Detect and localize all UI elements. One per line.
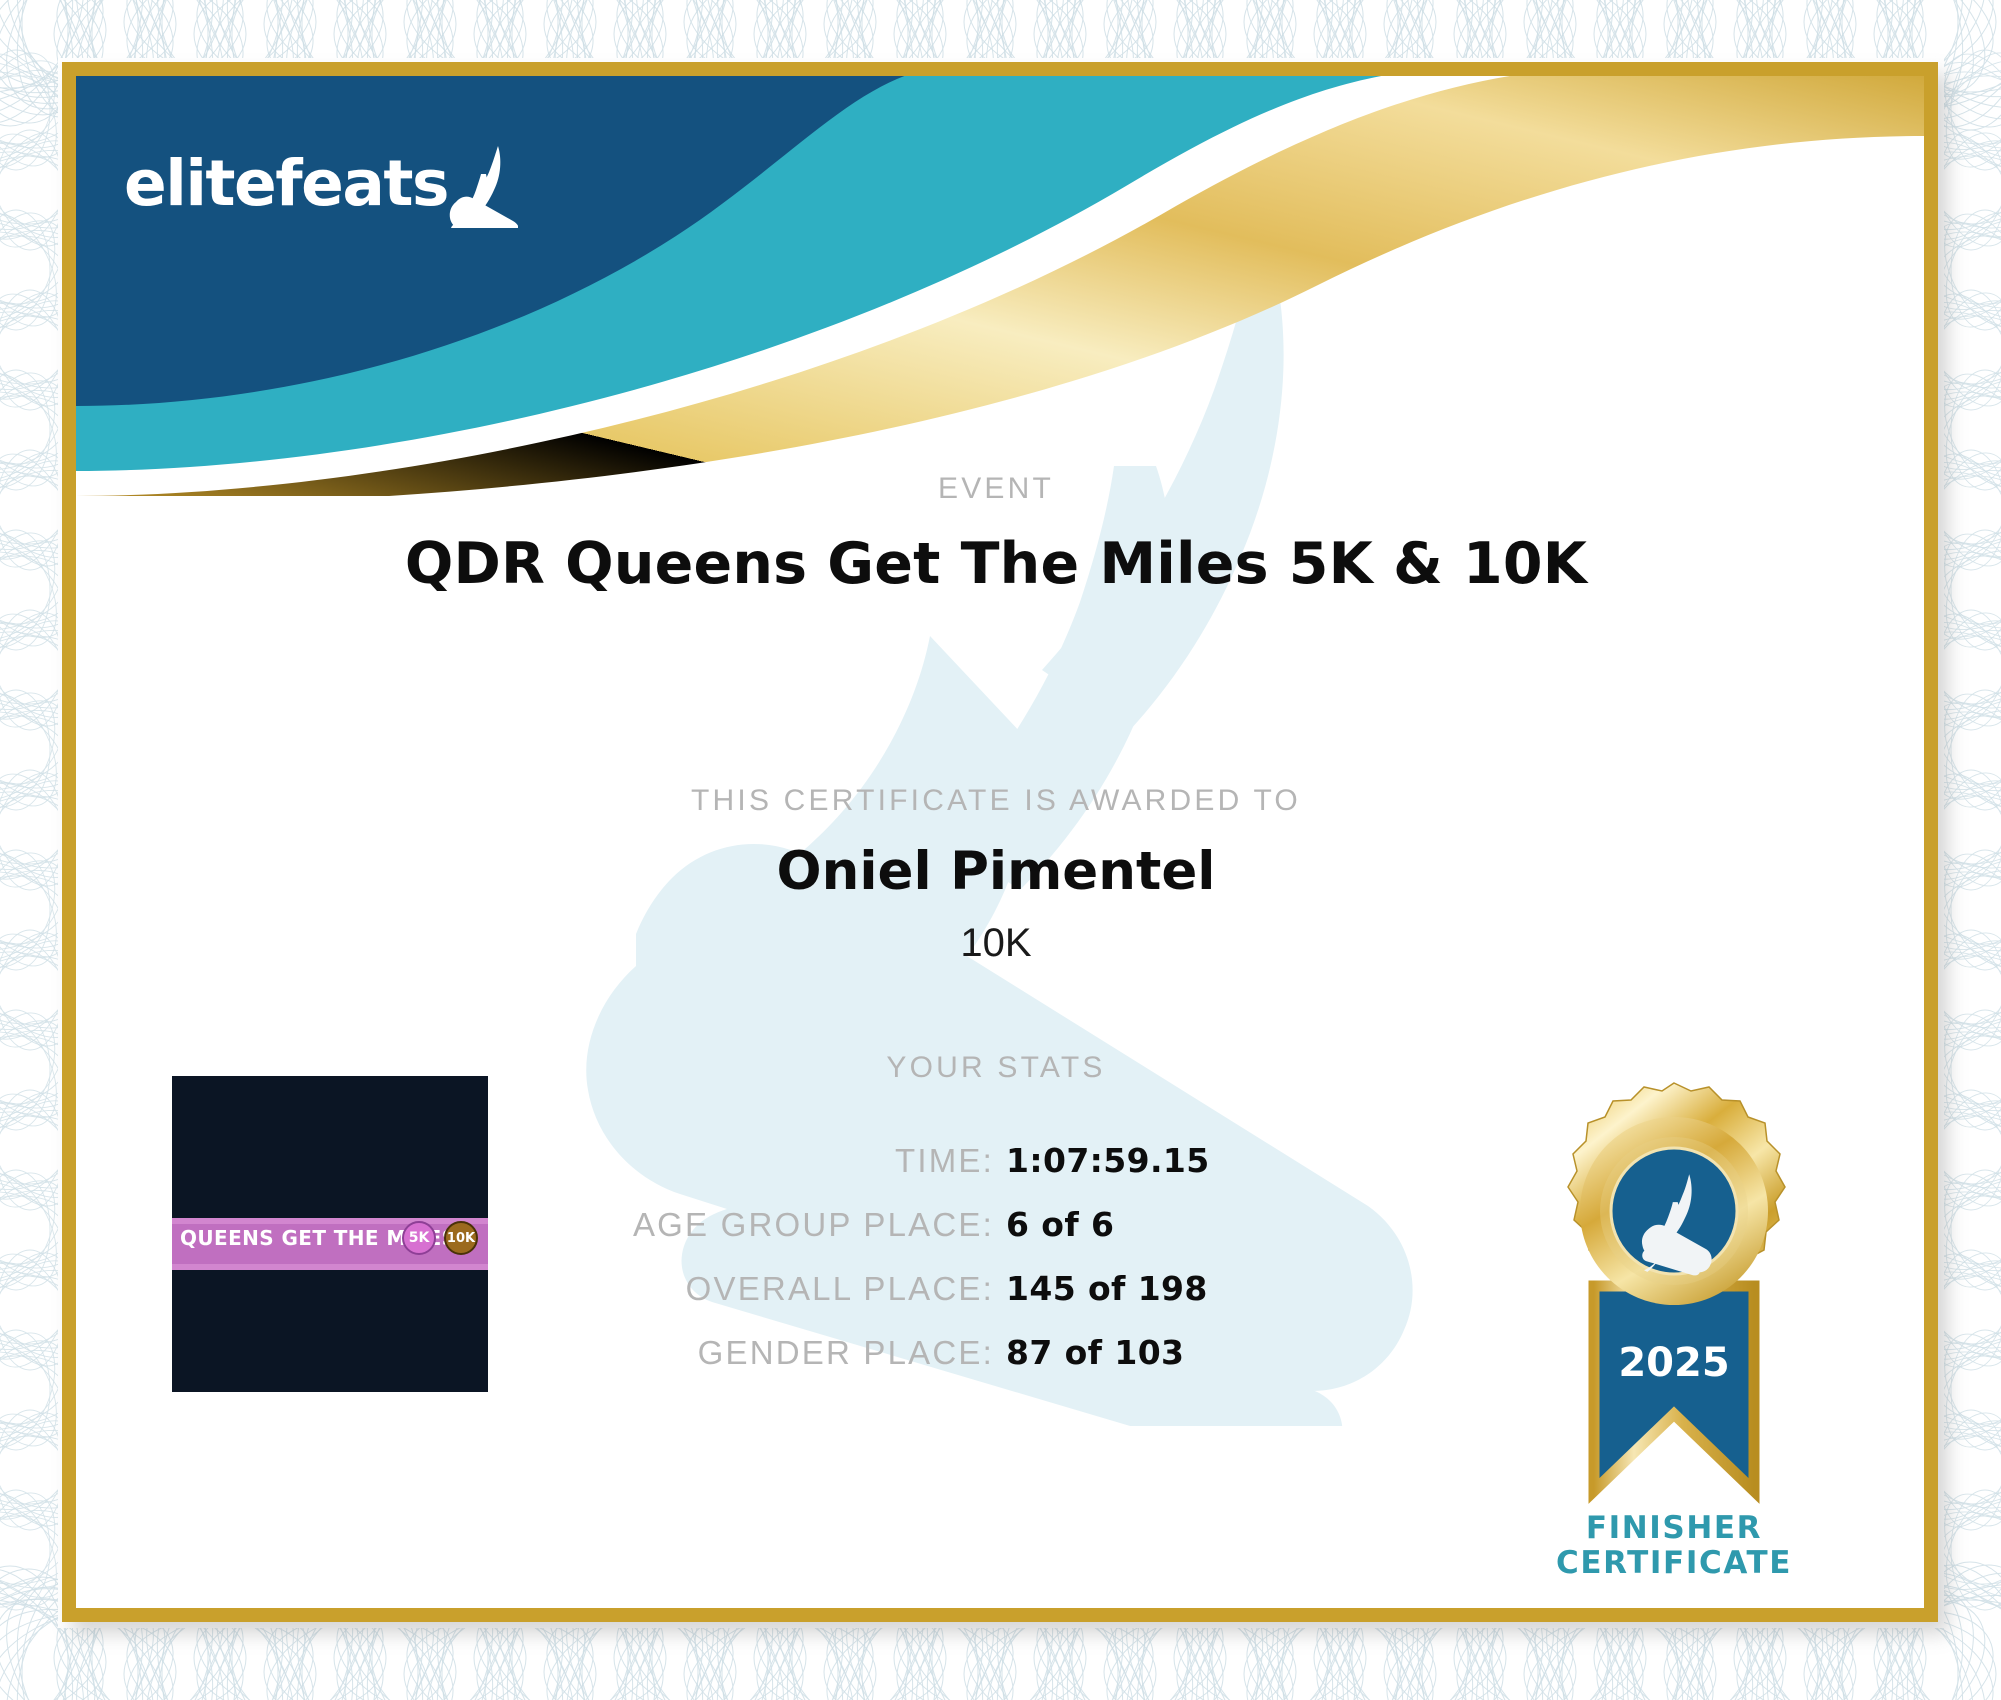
event-label: EVENT <box>296 472 1696 506</box>
certificate-card: elitefeats EVENT QDR Queens Get The Mile… <box>62 62 1938 1622</box>
event-logo-thumbnail: QUEENS GET THE MILES 5K 10K <box>172 1076 488 1392</box>
stat-row-age-group-place: AGE GROUP PLACE: 6 of 6 <box>276 1205 1716 1269</box>
recipient-name: Oniel Pimentel <box>276 841 1716 902</box>
race-distance: 10K <box>276 921 1716 966</box>
certificate-page: elitefeats EVENT QDR Queens Get The Mile… <box>0 0 2001 1700</box>
event-title: QDR Queens Get The Miles 5K & 10K <box>276 531 1716 597</box>
winged-foot-icon <box>448 144 518 228</box>
seal-caption: FINISHER CERTIFICATE <box>1464 1511 1884 1580</box>
stat-row-gender-place: GENDER PLACE: 87 of 103 <box>276 1333 1716 1397</box>
seal-caption-line2: CERTIFICATE <box>1464 1546 1884 1581</box>
seal-year: 2025 <box>1618 1340 1729 1386</box>
brand-logo: elitefeats <box>124 138 518 228</box>
stat-value-overall-place: 145 of 198 <box>1006 1269 1208 1308</box>
stat-row-overall-place: OVERALL PLACE: 145 of 198 <box>276 1269 1716 1333</box>
event-logo-badge-5k: 5K <box>402 1221 436 1255</box>
event-logo-band: QUEENS GET THE MILES 5K 10K <box>172 1218 488 1270</box>
event-logo-badge-10k: 10K <box>444 1221 478 1255</box>
brand-name: elitefeats <box>124 152 448 215</box>
awarded-to-label: THIS CERTIFICATE IS AWARDED TO <box>296 784 1696 818</box>
seal-caption-line1: FINISHER <box>1464 1511 1884 1546</box>
your-stats-label: YOUR STATS <box>296 1051 1696 1085</box>
stat-value-gender-place: 87 of 103 <box>1006 1333 1184 1372</box>
stats-list: TIME: 1:07:59.15 AGE GROUP PLACE: 6 of 6… <box>276 1141 1716 1397</box>
finisher-medal-seal: 2025 <box>1524 1036 1824 1536</box>
stat-row-time: TIME: 1:07:59.15 <box>276 1141 1716 1205</box>
stat-value-age-group-place: 6 of 6 <box>1006 1205 1114 1244</box>
stat-value-time: 1:07:59.15 <box>1006 1141 1210 1180</box>
